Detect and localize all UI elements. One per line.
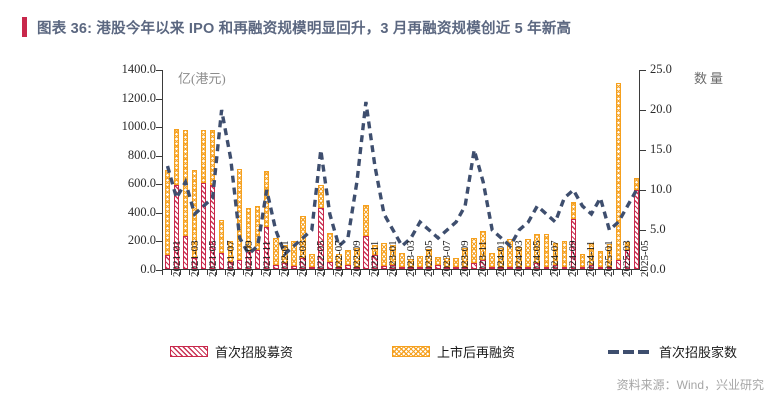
- left-axis-tick-label: 1000.0: [100, 119, 156, 134]
- right-axis-tick-label: 5.0: [650, 222, 706, 237]
- x-axis-tick-label: 2021-01: [171, 240, 183, 277]
- x-axis-tick-label: 2024-05: [531, 240, 543, 277]
- x-axis-tick-label: 2023-09: [459, 240, 471, 277]
- x-axis-tick-label: 2022-09: [351, 240, 363, 277]
- legend-label: 上市后再融资: [437, 342, 515, 361]
- left-axis-tick-label: 600.0: [100, 176, 156, 191]
- legend-swatch-refinancing: [392, 346, 430, 357]
- x-axis-tick-label: 2024-11: [585, 241, 597, 277]
- x-axis-tick-label: 2025-01: [603, 240, 615, 277]
- legend-label: 首次招股募资: [215, 342, 293, 361]
- right-axis-tick-label: 10.0: [650, 182, 706, 197]
- x-axis-tick-label: 2021-05: [207, 240, 219, 277]
- source-note: 资料来源：Wind，兴业研究: [617, 376, 764, 393]
- legend-item[interactable]: 首次招股家数: [608, 342, 737, 361]
- x-axis-tick-label: 2024-03: [513, 240, 525, 277]
- x-axis-tick-label: 2024-07: [549, 240, 561, 277]
- legend-dashed-line-swatch: [608, 346, 652, 357]
- legend-label: 首次招股家数: [659, 342, 737, 361]
- x-axis-tick-label: 2023-03: [405, 240, 417, 277]
- right-axis-tick-label: 0.0: [650, 262, 706, 277]
- x-axis-tick-label: 2023-11: [477, 241, 489, 277]
- left-axis-tick-label: 1400.0: [100, 62, 156, 77]
- chart-legend: 首次招股募资上市后再融资首次招股家数: [0, 340, 782, 362]
- title-accent-bar: [22, 17, 27, 37]
- right-axis-tick-label: 20.0: [650, 102, 706, 117]
- x-axis-tick-label: 2023-07: [441, 240, 453, 277]
- x-axis-tick-label: 2022-07: [333, 240, 345, 277]
- chart-container: 亿(港元) 数量 1400.01200.01000.0800.0600.0400…: [0, 48, 782, 348]
- page-title: 图表 36: 港股今年以来 IPO 和再融资规模明显回升，3 月再融资规模创近 …: [37, 17, 571, 38]
- chart-title-bar: 图表 36: 港股今年以来 IPO 和再融资规模明显回升，3 月再融资规模创近 …: [0, 10, 782, 44]
- x-axis-tick-label: 2023-01: [387, 240, 399, 277]
- left-axis-tick-label: 200.0: [100, 233, 156, 248]
- x-axis-tick-label: 2021-11: [261, 241, 273, 277]
- x-axis-tick-label: 2021-07: [225, 240, 237, 277]
- x-axis-tick-label: 2022-05: [315, 240, 327, 277]
- x-axis-tick-label: 2024-09: [567, 240, 579, 277]
- x-axis-tick-label: 2023-05: [423, 240, 435, 277]
- x-axis-tick-label: 2024-01: [495, 240, 507, 277]
- right-axis-tick-label: 15.0: [650, 142, 706, 157]
- x-axis-tick-label: 2022-01: [279, 240, 291, 277]
- x-axis-tick-label: 2025-03: [621, 240, 633, 277]
- legend-item[interactable]: 上市后再融资: [392, 342, 515, 361]
- x-axis-tick-label: 2022-11: [369, 241, 381, 277]
- dashed-trend-line: [168, 102, 637, 254]
- x-axis-tick-label: 2021-09: [243, 240, 255, 277]
- right-axis-tick-label: 25.0: [650, 62, 706, 77]
- legend-swatch-ipo-raised: [170, 346, 208, 357]
- x-axis-tick-mark: [162, 270, 163, 275]
- x-axis-tick-label: 2025-05: [639, 240, 651, 277]
- left-axis-tick-label: 1200.0: [100, 91, 156, 106]
- left-axis-tick-label: 400.0: [100, 205, 156, 220]
- legend-item[interactable]: 首次招股募资: [170, 342, 293, 361]
- left-axis-tick-label: 0.0: [100, 262, 156, 277]
- left-axis-tick-label: 800.0: [100, 148, 156, 163]
- x-axis-tick-label: 2021-03: [189, 240, 201, 277]
- x-axis-tick-label: 2022-03: [297, 240, 309, 277]
